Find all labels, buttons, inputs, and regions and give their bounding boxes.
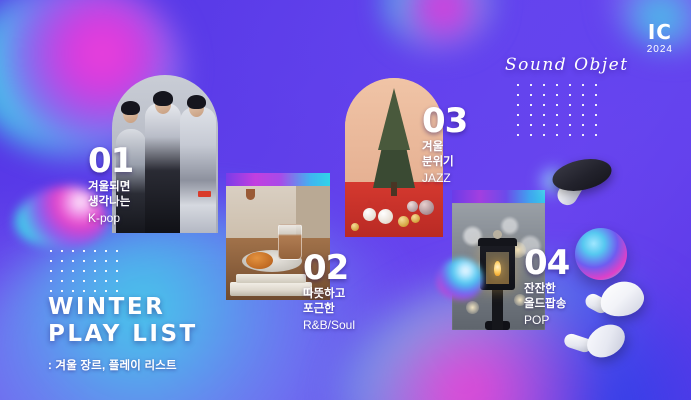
grid-dot [61,260,63,262]
bokeh-light [466,301,479,314]
pearl-ornament [407,201,418,212]
grid-dot [595,134,597,136]
grid-dot [61,270,63,272]
snowman-ornament [378,209,393,224]
grid-dot [569,134,571,136]
card-03-desc-line2: 분위기 [422,155,467,170]
sound-objet-script: Sound Objet [505,55,629,75]
card-04-desc-line2: 올드팝송 [524,297,569,312]
card-04-genre: POP [524,312,569,328]
grid-dot [582,94,584,96]
grid-dot [582,84,584,86]
grid-dot [595,124,597,126]
card-03-desc: 겨울 분위기 [422,140,467,170]
grid-dot [517,134,519,136]
grid-dot [530,124,532,126]
headline-subtitle: : 겨울 장르, 플레이 리스트 [48,357,198,373]
grid-dot [116,250,118,252]
card-03-genre: JAZZ [422,170,467,186]
headline-line-2: PLAY LIST [48,321,198,348]
pearl-ornament [419,200,434,215]
grid-dot [530,104,532,106]
grid-dot [543,134,545,136]
grid-dot [517,84,519,86]
gradient-sphere-object [575,228,627,280]
lantern-cap [478,238,517,246]
card-02-top-strip [226,173,330,186]
gradient-blob-small [437,258,483,300]
card-01-desc-line2: 생각나는 [88,195,133,210]
dancer-figure [145,103,181,233]
card-01-number: 01 [88,146,133,176]
lantern-flame [494,261,501,276]
grid-dot [517,124,519,126]
grid-dot [83,250,85,252]
grid-dot [105,270,107,272]
dancer-hair [153,91,173,106]
grid-dot [83,280,85,282]
poster-canvas: 01 겨울되면 생각나는 K-pop 02 따뜻하고 포근한 R&B/Soul … [0,0,691,400]
tree-trunk [391,182,397,196]
grid-dot [517,94,519,96]
grid-dot [569,114,571,116]
grid-dot [595,94,597,96]
grid-dot [543,114,545,116]
grid-dot [517,104,519,106]
grid-dot [595,84,597,86]
grid-dot [556,114,558,116]
grid-dot [556,134,558,136]
grid-dot [582,104,584,106]
grid-dot [83,260,85,262]
book-stack [236,274,306,283]
christmas-tree-top [378,88,410,150]
grid-dot [61,280,63,282]
grid-dot [530,114,532,116]
lantern-post [492,286,503,330]
grid-dot [582,114,584,116]
card-02-genre: R&B/Soul [303,317,355,333]
card-04-desc-line1: 잔잔한 [524,282,569,297]
grid-dot [569,124,571,126]
grid-dot [61,250,63,252]
grid-dot [569,84,571,86]
grid-dot [105,260,107,262]
grid-dot [50,270,52,272]
card-01-desc-line1: 겨울되면 [88,180,133,195]
grid-dot [116,290,118,292]
grid-dot [94,260,96,262]
grid-dot [105,290,107,292]
grid-dot [582,134,584,136]
book-stack [230,282,312,296]
grid-dot [543,84,545,86]
gold-ornament [351,223,359,231]
logo-year: 2024 [647,43,673,56]
card-02-desc: 따뜻하고 포근한 [303,287,355,317]
pastry [246,252,273,269]
snowman-ornament [363,208,376,221]
grid-dot [116,260,118,262]
grid-dot [569,94,571,96]
dancer-hair [121,101,140,115]
card-03-number: 03 [422,106,467,136]
card-03-desc-line1: 겨울 [422,140,467,155]
card-04-number: 04 [524,248,569,278]
grid-dot [94,250,96,252]
grid-dot [556,84,558,86]
grid-dot [543,94,545,96]
grid-dot [595,114,597,116]
grid-dot [72,280,74,282]
grid-dot [72,260,74,262]
grid-dot [116,270,118,272]
grid-dot [543,104,545,106]
grid-dot [83,290,85,292]
grid-dot [556,104,558,106]
brand-logo: IC 2024 [647,22,673,56]
grid-dot [556,94,558,96]
card-01-desc: 겨울되면 생각나는 [88,180,133,210]
grid-dot [50,290,52,292]
card-02-text: 02 따뜻하고 포근한 R&B/Soul [303,253,355,333]
grid-dot [94,280,96,282]
card-04-top-strip [452,190,545,203]
grid-dot [569,104,571,106]
grid-dot [94,290,96,292]
card-04-text: 04 잔잔한 올드팝송 POP [524,248,569,328]
grid-dot [556,124,558,126]
grid-dot [72,290,74,292]
card-03-text: 03 겨울 분위기 JAZZ [422,106,467,186]
grid-dot [50,280,52,282]
card-01-text: 01 겨울되면 생각나는 K-pop [88,146,133,226]
grid-dot [83,270,85,272]
card-02-desc-line2: 포근한 [303,302,355,317]
grid-dot [61,290,63,292]
grid-dot [116,280,118,282]
headline-line-1: WINTER [48,294,198,321]
logo-text: IC [647,22,673,42]
coffee-glass [278,224,302,260]
cafe-lamp [246,189,255,200]
grid-dot [530,94,532,96]
gold-ornament [398,216,409,227]
red-tag-detail [198,191,211,197]
grid-dot [50,260,52,262]
grid-dot [94,270,96,272]
grid-dot [50,250,52,252]
card-02-number: 02 [303,253,355,283]
grid-dot [582,124,584,126]
card-02-desc-line1: 따뜻하고 [303,287,355,302]
lantern-knob [493,230,502,239]
grid-dot [105,280,107,282]
card-04-desc: 잔잔한 올드팝송 [524,282,569,312]
gold-ornament [411,214,420,223]
grid-dot [72,270,74,272]
grid-dot [517,114,519,116]
grid-dot [595,104,597,106]
dancer-figure [180,107,216,233]
grid-dot [530,84,532,86]
headline-block: WINTER PLAY LIST : 겨울 장르, 플레이 리스트 [48,294,198,373]
dancer-hair [187,95,206,109]
grid-dot [72,250,74,252]
grid-dot [530,134,532,136]
card-01-genre: K-pop [88,210,133,226]
grid-dot [543,124,545,126]
grid-dot [105,250,107,252]
